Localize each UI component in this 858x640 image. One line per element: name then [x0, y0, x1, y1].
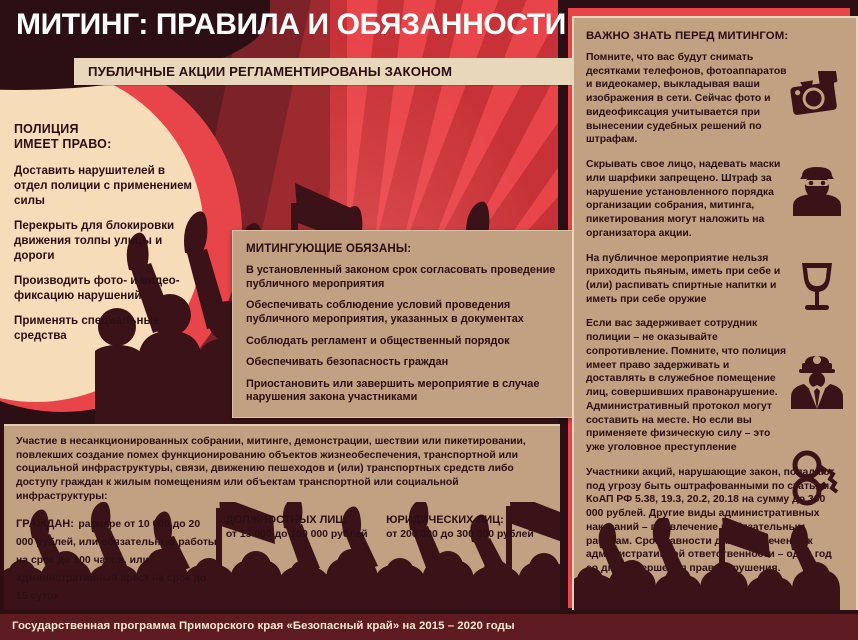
handcuffs-icon: [784, 430, 850, 526]
important-paragraph: Скрывать свое лицо, надевать маски или ш…: [586, 158, 790, 240]
fines-columns: ГРАЖДАН: размере от 10 000 до 20 000 руб…: [16, 514, 548, 604]
fines-intro: Участие в несанкционированных собрании, …: [16, 435, 548, 504]
main-stage: МИТИНГ: ПРАВИЛА И ОБЯЗАННОСТИ ПУБЛИЧНЫЕ …: [0, 0, 572, 640]
fines-officials-value: от 15 000 до 100 000 рублей: [226, 528, 378, 542]
obligations-item: Обеспечивать соблюдение условий проведен…: [246, 299, 571, 326]
page-title: МИТИНГ: ПРАВИЛА И ОБЯЗАННОСТИ: [16, 10, 566, 40]
obligations-item: Соблюдать регламент и общественный поряд…: [246, 335, 571, 349]
important-paragraph: Помните, что вас будут снимать десятками…: [586, 51, 790, 147]
infographic-root: МИТИНГ: ПРАВИЛА И ОБЯЗАННОСТИ ПУБЛИЧНЫЕ …: [0, 0, 858, 640]
obligations-item: В установленный законом срок согласовать…: [246, 264, 571, 291]
important-heading: ВАЖНО ЗНАТЬ ПЕРЕД МИТИНГОМ:: [586, 30, 856, 42]
fines-officials-title: ДОЛЖНОСТНЫХ ЛИЦ:: [226, 514, 378, 526]
fines-legal-title: ЮРИДИЧЕСКИХ ЛИЦ:: [386, 514, 548, 526]
important-icon-column: [784, 46, 850, 526]
police-item: Перекрыть для блокировки движения толпы …: [14, 218, 192, 263]
fines-legal-value: от 200 000 до 300 000 рублей: [386, 528, 548, 542]
masked-person-icon: [784, 142, 850, 238]
fines-panel: Участие в несанкционированных собрании, …: [4, 424, 560, 612]
police-officer-icon: [784, 334, 850, 430]
fines-citizens-value: размере от 10 000 до 20 000 рублей, или …: [16, 519, 217, 602]
important-paragraph: На публичное мероприятие нельзя приходит…: [586, 252, 790, 307]
footer-text: Государственная программа Приморского кр…: [0, 614, 858, 632]
important-card: ВАЖНО ЗНАТЬ ПЕРЕД МИТИНГОМ: Помните, что…: [572, 16, 858, 616]
camera-icon: [784, 46, 850, 142]
crowd-silhouette-right: [574, 518, 856, 614]
fines-column-officials: ДОЛЖНОСТНЫХ ЛИЦ: от 15 000 до 100 000 ру…: [226, 514, 378, 604]
police-item: Доставить нарушителей в отдел полиции с …: [14, 163, 192, 208]
police-item: Производить фото- и видео­фиксацию наруш…: [14, 273, 192, 303]
police-heading-line2: ИМЕЕТ ПРАВО:: [14, 137, 111, 151]
police-heading: ПОЛИЦИЯ ИМЕЕТ ПРАВО:: [14, 122, 192, 153]
wine-glass-icon: [784, 238, 850, 334]
obligations-card: МИТИНГУЮЩИЕ ОБЯЗАНЫ: В установленный зак…: [232, 230, 572, 418]
subtitle-bar: ПУБЛИЧНЫЕ АКЦИИ РЕГЛАМЕНТИРОВАНЫ ЗАКОНОМ: [74, 58, 572, 85]
police-rights-block: ПОЛИЦИЯ ИМЕЕТ ПРАВО: Доставить нарушител…: [14, 122, 192, 353]
important-paragraph: Если вас задерживает сотрудник полиции –…: [586, 317, 790, 454]
headline-band: МИТИНГ: ПРАВИЛА И ОБЯЗАННОСТИ: [0, 0, 572, 62]
footer-bar: Государственная программа Приморского кр…: [0, 614, 858, 640]
fines-citizens-title: ГРАЖДАН:: [16, 518, 74, 530]
subtitle-text: ПУБЛИЧНЫЕ АКЦИИ РЕГЛАМЕНТИРОВАНЫ ЗАКОНОМ: [74, 58, 572, 79]
police-item: Применять специальные средства: [14, 313, 192, 343]
police-heading-line1: ПОЛИЦИЯ: [14, 122, 79, 136]
page-title-bold: МИТИНГ:: [16, 8, 148, 41]
page-title-rest: ПРАВИЛА И ОБЯЗАННОСТИ: [148, 8, 566, 41]
obligations-item: Обеспечивать безопасность граждан: [246, 356, 571, 370]
fines-column-citizens: ГРАЖДАН: размере от 10 000 до 20 000 руб…: [16, 514, 218, 604]
obligations-heading: МИТИНГУЮЩИЕ ОБЯЗАНЫ:: [246, 242, 571, 255]
right-column: ВАЖНО ЗНАТЬ ПЕРЕД МИТИНГОМ: Помните, что…: [558, 0, 858, 640]
obligations-item: Приостановить или завершить мероприятие …: [246, 378, 571, 405]
fines-column-legal: ЮРИДИЧЕСКИХ ЛИЦ: от 200 000 до 300 000 р…: [386, 514, 548, 604]
